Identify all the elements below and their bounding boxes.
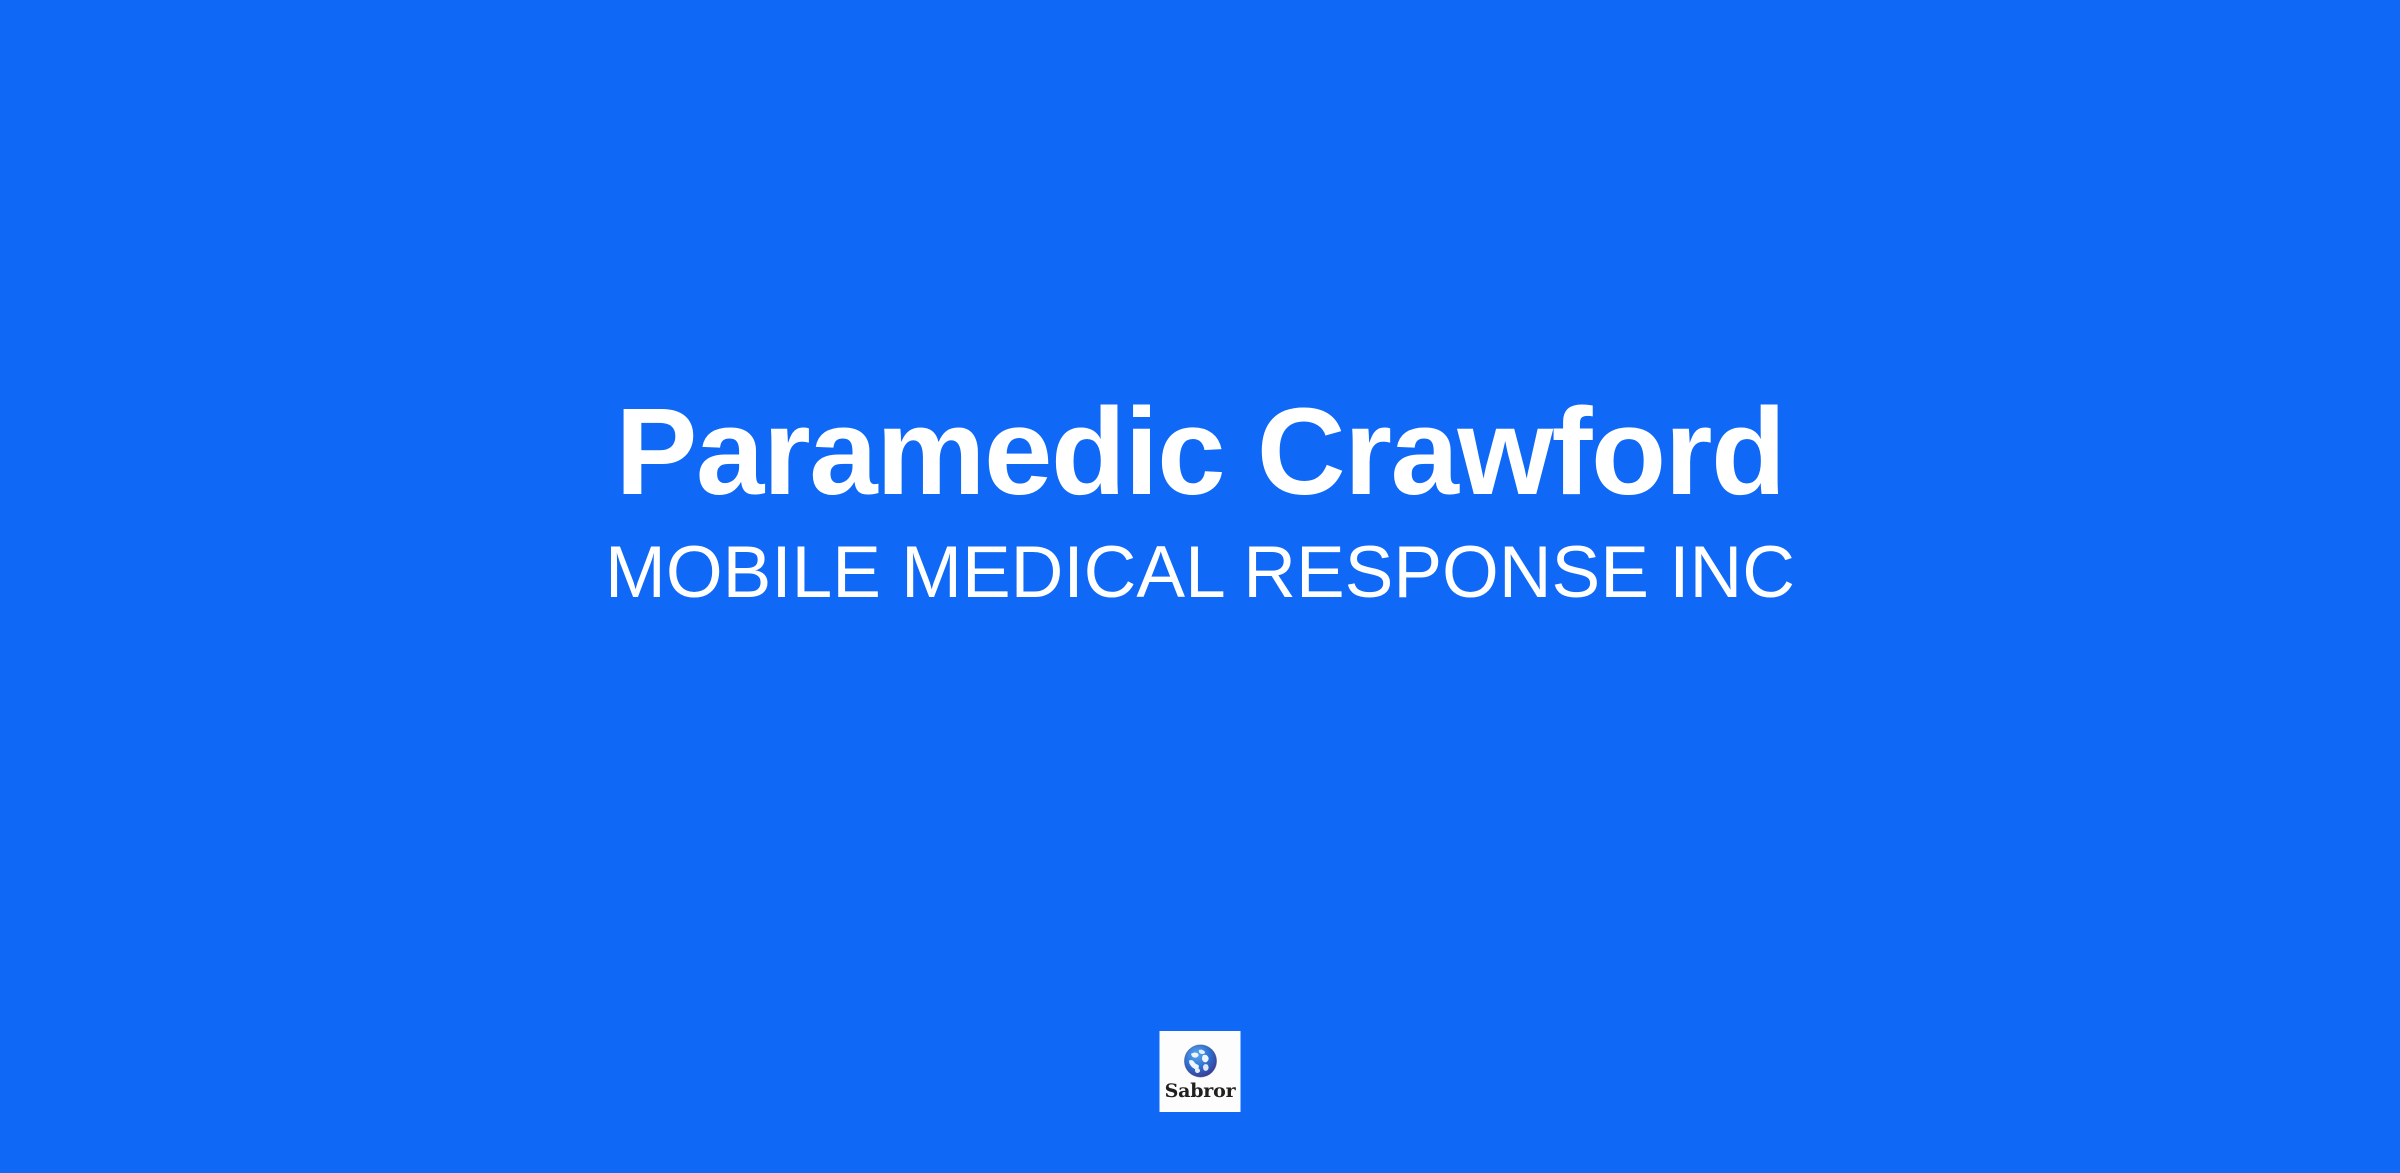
title-slide: Paramedic Crawford MOBILE MEDICAL RESPON… <box>0 0 2400 1173</box>
page-title: Paramedic Crawford <box>615 391 1784 514</box>
logo-wordmark: Sabror <box>1165 1080 1236 1101</box>
globe-icon <box>1181 1042 1219 1080</box>
hero-text-block: Paramedic Crawford MOBILE MEDICAL RESPON… <box>0 0 2400 1000</box>
brand-logo[interactable]: Sabror <box>1160 1031 1241 1112</box>
page-subtitle: MOBILE MEDICAL RESPONSE INC <box>605 514 1795 609</box>
logo-card: Sabror <box>1160 1031 1241 1112</box>
